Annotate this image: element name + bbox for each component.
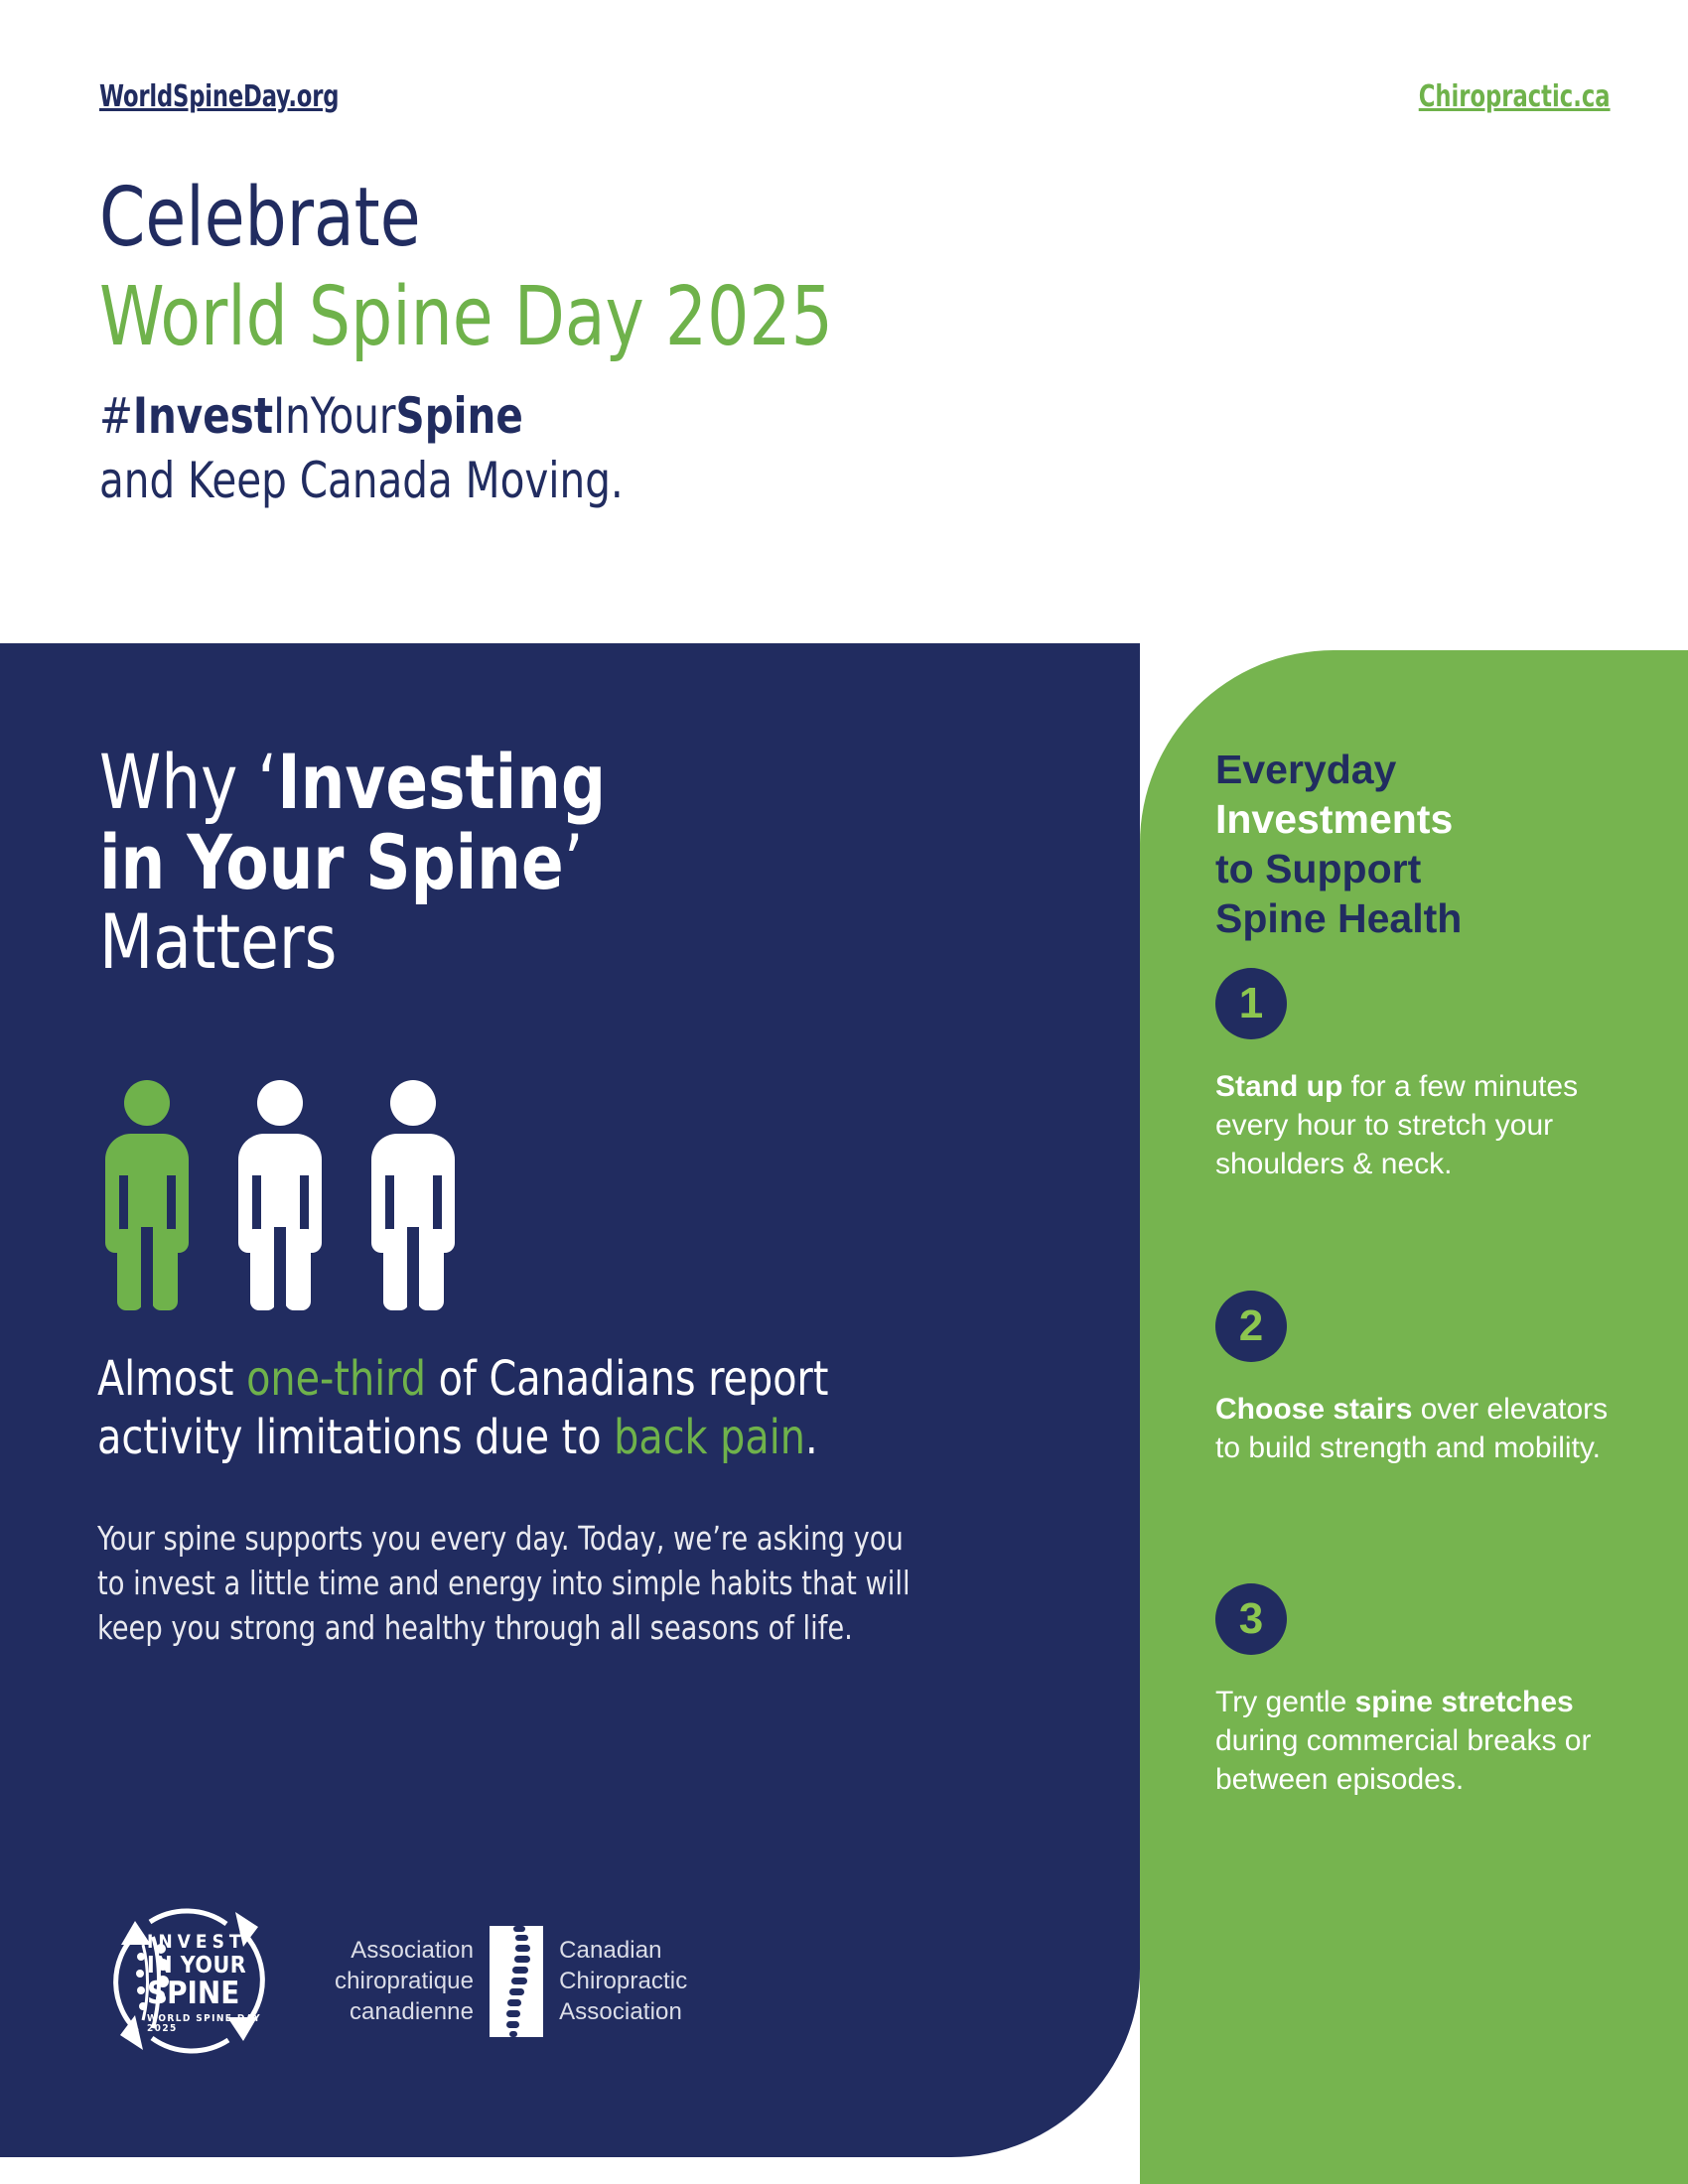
badge-line-invest: INVEST bbox=[147, 1933, 276, 1952]
stat-suffix: . bbox=[805, 1410, 818, 1465]
hashtag-spine: Spine bbox=[396, 387, 523, 445]
tip-item-2: 2 Choose stairs over elevators to build … bbox=[1215, 1291, 1613, 1467]
person-leg-right bbox=[418, 1229, 444, 1310]
tip-3-bold: spine stretches bbox=[1355, 1686, 1574, 1718]
person-leg-gap bbox=[274, 1227, 286, 1312]
tip-number-badge-2: 2 bbox=[1215, 1291, 1287, 1362]
person-head bbox=[257, 1080, 303, 1126]
tip-text-1: Stand up for a few minutes every hour to… bbox=[1215, 1067, 1613, 1183]
green-heading-line-3: to Support bbox=[1215, 846, 1421, 891]
person-leg-gap bbox=[407, 1227, 419, 1312]
navy-heading-investing: Investing bbox=[277, 738, 606, 826]
badge-text-block: INVEST IN YOUR SPINE WORLD SPINE DAY 202… bbox=[147, 1933, 276, 2034]
hashtag-inyour: InYour bbox=[273, 387, 395, 445]
stat-prefix: Almost bbox=[97, 1351, 246, 1407]
stat-highlight-one-third: one-third bbox=[246, 1351, 426, 1407]
badge-line-in-your: IN YOUR bbox=[147, 1955, 276, 1978]
hashtag-invest: Invest bbox=[133, 387, 273, 445]
tip-3-lead: Try gentle bbox=[1215, 1686, 1355, 1718]
navy-heading-in-your-spine: in Your Spine bbox=[99, 818, 564, 906]
stat-highlight-back-pain: back pain bbox=[614, 1410, 805, 1465]
everyday-investments-panel: Everyday Investments to Support Spine He… bbox=[1140, 650, 1688, 2184]
hashtag-symbol: # bbox=[99, 387, 133, 445]
person-icon-white-1 bbox=[230, 1080, 330, 1308]
navy-panel-body-copy: Your spine supports you every day. Today… bbox=[97, 1517, 919, 1651]
spine-glyph-icon bbox=[490, 1926, 543, 2037]
person-arm-gap-left bbox=[385, 1175, 394, 1235]
navy-panel-heading: Why ‘Investingin Your Spine’Matters bbox=[99, 743, 976, 983]
navy-heading-why: Why ‘ bbox=[99, 738, 277, 826]
cca-fr-line-1: Association bbox=[335, 1935, 474, 1966]
person-leg-left bbox=[383, 1229, 409, 1310]
invest-in-your-spine-badge: INVEST IN YOUR SPINE WORLD SPINE DAY 202… bbox=[97, 1889, 281, 2073]
badge-line-world-spine-day: WORLD SPINE DAY 2025 bbox=[147, 2014, 276, 2034]
person-icon-white-2 bbox=[363, 1080, 463, 1308]
person-head bbox=[390, 1080, 436, 1126]
person-leg-right bbox=[285, 1229, 311, 1310]
cca-en-line-2: Chiropractic bbox=[559, 1966, 687, 1996]
cca-french-name: Association chiropratique canadienne bbox=[335, 1935, 474, 2028]
tip-1-bold: Stand up bbox=[1215, 1070, 1342, 1103]
person-leg-left bbox=[117, 1229, 143, 1310]
green-heading-line-4: Spine Health bbox=[1215, 895, 1462, 941]
green-panel-heading: Everyday Investments to Support Spine He… bbox=[1215, 745, 1642, 943]
worldspineday-link[interactable]: WorldSpineDay.org bbox=[99, 79, 339, 114]
person-arm-gap-right bbox=[300, 1175, 309, 1235]
cca-en-line-1: Canadian bbox=[559, 1935, 687, 1966]
person-leg-right bbox=[152, 1229, 178, 1310]
cca-fr-line-3: canadienne bbox=[335, 1996, 474, 2027]
person-arm-gap-right bbox=[433, 1175, 442, 1235]
tip-number-badge-1: 1 bbox=[1215, 968, 1287, 1039]
hero-line-world-spine-day: World Spine Day 2025 bbox=[99, 270, 833, 364]
logo-row: INVEST IN YOUR SPINE WORLD SPINE DAY 202… bbox=[97, 1889, 687, 2073]
tip-text-2: Choose stairs over elevators to build st… bbox=[1215, 1390, 1613, 1467]
chiropractic-ca-link[interactable]: Chiropractic.ca bbox=[1419, 79, 1611, 114]
cca-english-name: Canadian Chiropractic Association bbox=[559, 1935, 687, 2028]
cca-spine-icon bbox=[490, 1926, 543, 2037]
tip-number-badge-3: 3 bbox=[1215, 1583, 1287, 1655]
green-heading-line-1: Everyday bbox=[1215, 747, 1396, 792]
hero-hashtag: #InvestInYourSpine bbox=[99, 387, 523, 445]
people-statistic-icons bbox=[97, 1080, 463, 1308]
person-leg-gap bbox=[141, 1227, 153, 1312]
person-icon-green bbox=[97, 1080, 197, 1308]
green-heading-line-2: Investments bbox=[1215, 796, 1453, 842]
cca-en-line-3: Association bbox=[559, 1996, 687, 2027]
navy-heading-matters: Matters bbox=[99, 897, 337, 986]
person-arm-gap-left bbox=[119, 1175, 128, 1235]
hero-section: Celebrate World Spine Day 2025 #InvestIn… bbox=[0, 149, 1688, 645]
tip-text-3: Try gentle spine stretches during commer… bbox=[1215, 1683, 1613, 1799]
person-arm-gap-left bbox=[252, 1175, 261, 1235]
person-arm-gap-right bbox=[167, 1175, 176, 1235]
person-leg-left bbox=[250, 1229, 276, 1310]
hero-tagline: and Keep Canada Moving. bbox=[99, 452, 624, 509]
statistic-statement: Almost one-third of Canadians report act… bbox=[97, 1350, 956, 1466]
tip-item-1: 1 Stand up for a few minutes every hour … bbox=[1215, 968, 1613, 1183]
navy-heading-quote-close: ’ bbox=[564, 818, 584, 906]
tip-2-bold: Choose stairs bbox=[1215, 1393, 1412, 1426]
badge-line-spine: SPINE bbox=[147, 1979, 276, 2009]
canadian-chiropractic-association-logo: Association chiropratique canadienne bbox=[335, 1926, 687, 2037]
tip-item-3: 3 Try gentle spine stretches during comm… bbox=[1215, 1583, 1613, 1799]
person-head bbox=[124, 1080, 170, 1126]
tip-3-rest: during commercial breaks or between epis… bbox=[1215, 1724, 1591, 1796]
hero-line-celebrate: Celebrate bbox=[99, 171, 421, 265]
cca-fr-line-2: chiropratique bbox=[335, 1966, 474, 1996]
why-investing-panel: Why ‘Investingin Your Spine’Matters bbox=[0, 643, 1140, 2157]
